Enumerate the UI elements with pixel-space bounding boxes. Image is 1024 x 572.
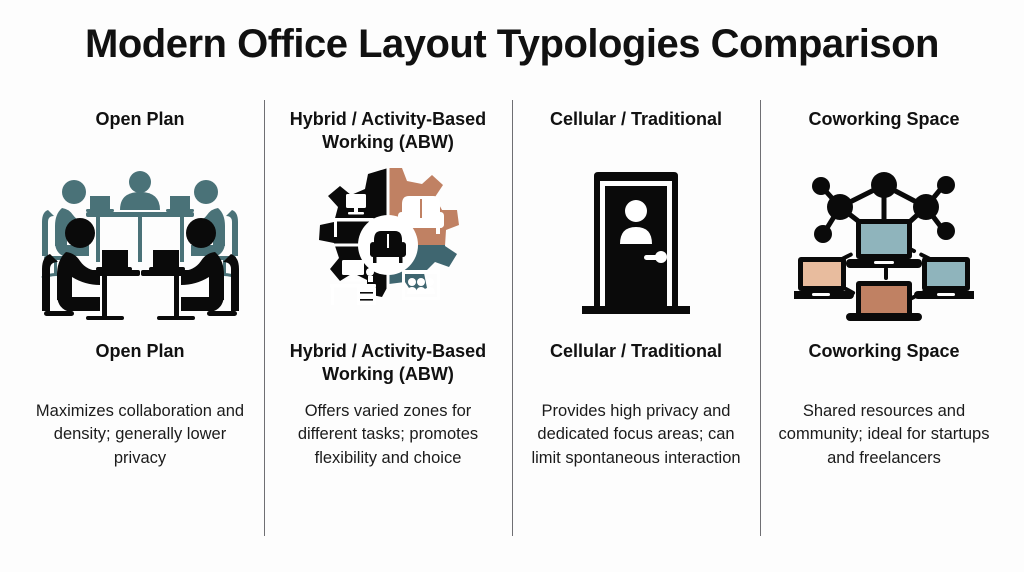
column-coworking-space: Coworking Space bbox=[760, 100, 1008, 536]
column-open-plan: Open Plan bbox=[16, 100, 264, 536]
private-office-door-icon bbox=[522, 160, 750, 330]
column-cellular-traditional: Cellular / Traditional bbox=[512, 100, 760, 536]
column-description-hybrid-abw: Offers varied zones for different tasks;… bbox=[274, 400, 502, 470]
column-label-coworking-space: Coworking Space bbox=[808, 340, 959, 388]
page-title: Modern Office Layout Typologies Comparis… bbox=[0, 22, 1024, 66]
coworking-network-laptops-icon bbox=[770, 160, 998, 330]
column-header-coworking-space: Coworking Space bbox=[808, 108, 959, 158]
infographic-root: Modern Office Layout Typologies Comparis… bbox=[0, 0, 1024, 572]
column-label-open-plan: Open Plan bbox=[95, 340, 184, 388]
column-header-cellular-traditional: Cellular / Traditional bbox=[550, 108, 722, 158]
column-label-cellular-traditional: Cellular / Traditional bbox=[550, 340, 722, 388]
column-label-hybrid-abw: Hybrid / Activity-Based Working (ABW) bbox=[274, 340, 502, 388]
typology-columns: Open Plan bbox=[16, 100, 1008, 536]
column-description-coworking-space: Shared resources and community; ideal fo… bbox=[770, 400, 998, 470]
hybrid-abw-gear-icon bbox=[274, 160, 502, 330]
column-header-open-plan: Open Plan bbox=[95, 108, 184, 158]
open-plan-desks-icon bbox=[26, 160, 254, 330]
column-description-cellular-traditional: Provides high privacy and dedicated focu… bbox=[522, 400, 750, 470]
column-hybrid-abw: Hybrid / Activity-Based Working (ABW) bbox=[264, 100, 512, 536]
column-description-open-plan: Maximizes collaboration and density; gen… bbox=[26, 400, 254, 470]
column-header-hybrid-abw: Hybrid / Activity-Based Working (ABW) bbox=[274, 108, 502, 158]
